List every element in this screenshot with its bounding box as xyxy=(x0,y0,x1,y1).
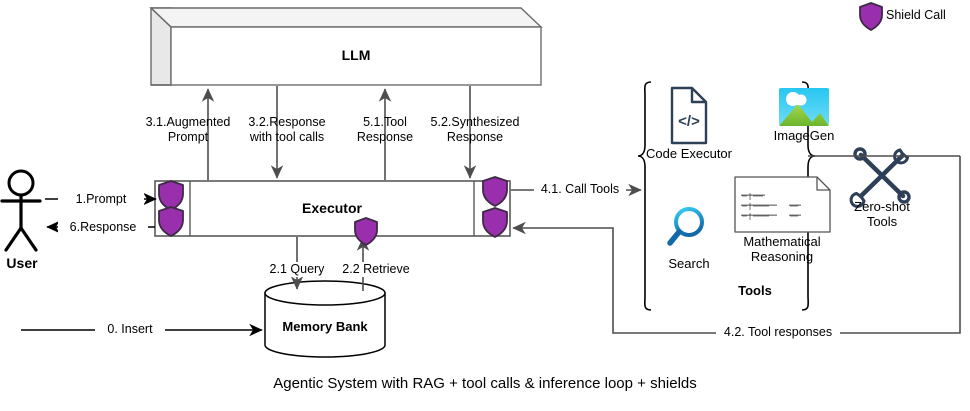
llm-label: LLM xyxy=(171,47,541,64)
edge-label-21-query: 2.1 Query xyxy=(258,262,336,277)
edge-label-52-synthesized-response: 5.2.Synthesized Response xyxy=(425,115,525,145)
tools-group-label: Tools xyxy=(700,283,810,298)
tool-label-search: Search xyxy=(654,256,724,271)
edge-label-42-tool-responses: 4.2. Tool responses xyxy=(716,325,840,340)
diagram-caption: Agentic System with RAG + tool calls & i… xyxy=(0,375,970,393)
crossed-wrenches-icon xyxy=(851,149,909,206)
executor-label: Executor xyxy=(190,200,474,217)
edge-label-6-response: 6.Response xyxy=(58,220,148,235)
magnifier-icon xyxy=(670,209,702,243)
svg-text:</>: </> xyxy=(678,113,700,130)
diagram-canvas: </> xyxy=(0,0,970,411)
edge-label-0-insert: 0. Insert xyxy=(95,322,165,337)
edge-label-22-retrieve: 2.2 Retrieve xyxy=(334,262,418,277)
code-document-icon: </> xyxy=(672,88,706,143)
edge-label-31-augmented-prompt: 3.1.Augmented Prompt xyxy=(140,115,236,145)
tool-label-code-executor: Code Executor xyxy=(639,146,739,161)
edge-label-32-response-with-tool-calls: 3.2.Response with tool calls xyxy=(236,115,338,145)
edge-label-41-call-tools: 4.1. Call Tools xyxy=(534,182,626,197)
memory-bank-label: Memory Bank xyxy=(265,319,385,334)
formula-document-icon xyxy=(735,177,830,232)
legend-shield-call-label: Shield Call xyxy=(886,8,966,23)
user-node xyxy=(2,171,40,250)
tool-label-imagegen: ImageGen xyxy=(764,128,844,143)
user-label: User xyxy=(0,255,44,272)
image-picture-icon xyxy=(779,88,829,126)
edge-label-51-tool-response: 5.1.Tool Response xyxy=(347,115,423,145)
tool-label-mathematical-reasoning: Mathematical Reasoning xyxy=(727,234,837,265)
edge-label-1-prompt: 1.Prompt xyxy=(58,192,144,207)
tool-label-zero-shot-tools: Zero-shot Tools xyxy=(837,199,927,230)
